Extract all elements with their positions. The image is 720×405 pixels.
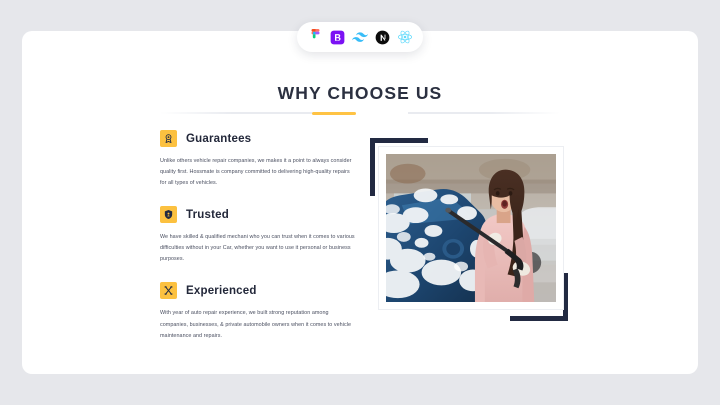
car-wash-photo — [386, 154, 556, 302]
feature-list: Guarantees Unlike others vehicle repair … — [160, 130, 365, 342]
bootstrap-icon[interactable] — [329, 29, 346, 46]
nextjs-icon[interactable] — [374, 29, 391, 46]
feature-title: Guarantees — [186, 133, 251, 145]
react-icon[interactable] — [396, 29, 413, 46]
photo-composition — [370, 136, 570, 321]
award-icon — [160, 130, 177, 147]
tailwind-icon[interactable] — [352, 29, 369, 46]
title-divider — [160, 112, 560, 114]
feature-item: Experienced With year of auto repair exp… — [160, 282, 365, 341]
tech-stack-toolbar — [297, 22, 423, 52]
feature-item: Guarantees Unlike others vehicle repair … — [160, 130, 365, 189]
slide-page: WHY CHOOSE US Guarantees Unlike other — [0, 0, 720, 405]
slide-card: WHY CHOOSE US Guarantees Unlike other — [22, 31, 698, 374]
shield-icon — [160, 206, 177, 223]
feature-title: Trusted — [186, 209, 229, 221]
tools-icon — [160, 282, 177, 299]
figma-icon[interactable] — [307, 29, 324, 46]
section-title: WHY CHOOSE US — [22, 83, 698, 104]
feature-header: Trusted — [160, 206, 365, 223]
feature-body: Unlike others vehicle repair companies, … — [160, 156, 357, 189]
feature-title: Experienced — [186, 285, 257, 297]
feature-item: Trusted We have skilled & qualified mech… — [160, 206, 365, 265]
feature-header: Experienced — [160, 282, 365, 299]
photo-frame — [378, 146, 564, 310]
title-divider-accent — [312, 112, 356, 115]
feature-body: With year of auto repair experience, we … — [160, 308, 357, 341]
feature-body: We have skilled & qualified mechani who … — [160, 232, 357, 265]
feature-header: Guarantees — [160, 130, 365, 147]
page-title: WHY CHOOSE US — [22, 83, 698, 104]
